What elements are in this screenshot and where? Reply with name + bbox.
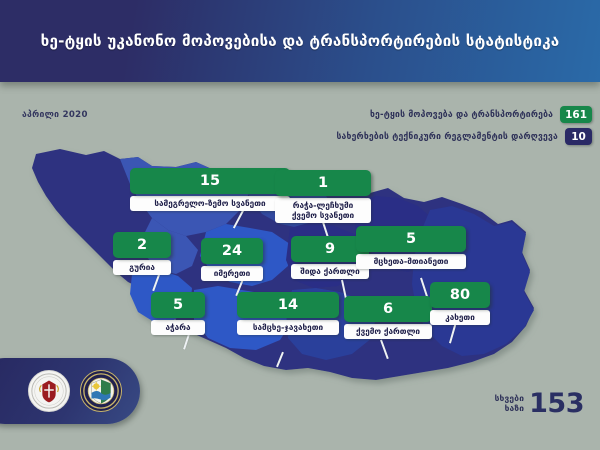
header-banner: ხე-ტყის უკანონო მოპოვებისა და ტრანსპორტი…	[0, 0, 600, 82]
region-label-racha: რაჭა-ლეჩხუმიქვემო სვანეთი	[275, 198, 371, 223]
total-label-line2: ხაზი	[495, 404, 525, 413]
region-count-racha: 1	[275, 170, 371, 196]
region-marker-adjara[interactable]: 5 აჭარა	[151, 292, 205, 335]
region-label-guria: გურია	[113, 260, 171, 275]
region-marker-samegrelo[interactable]: 15 სამეგრელო-ზემო სვანეთი	[130, 168, 290, 211]
footer-logo-panel	[0, 358, 140, 424]
region-count-adjara: 5	[151, 292, 205, 318]
total-summary: სხვები ხაზი 153	[495, 390, 584, 417]
region-count-kakheti: 80	[430, 282, 490, 308]
region-marker-guria[interactable]: 2 გურია	[113, 232, 171, 275]
legend: ხე-ტყის მოპოვება და ტრანსპორტირება 161 ს…	[336, 106, 592, 150]
environmental-supervision-icon	[80, 370, 122, 412]
region-marker-imereti[interactable]: 24 იმერეთი	[201, 238, 263, 281]
region-count-samtskhe: 14	[237, 292, 339, 318]
legend-label-logging: ხე-ტყის მოპოვება და ტრანსპორტირება	[370, 110, 553, 120]
legend-label-sawmill: სახერხების ტექნიკური რეგლამენტის დარღვევ…	[336, 132, 558, 142]
region-label-samtskhe: სამცხე-ჯავახეთი	[237, 320, 339, 335]
legend-row-sawmill: სახერხების ტექნიკური რეგლამენტის დარღვევ…	[336, 128, 592, 145]
region-marker-mtskheta[interactable]: 5 მცხეთა-მთიანეთი	[356, 226, 466, 269]
region-marker-racha[interactable]: 1 რაჭა-ლეჩხუმიქვემო სვანეთი	[275, 170, 371, 223]
region-count-kvemo-kartli: 6	[344, 296, 432, 322]
region-label-adjara: აჭარა	[151, 320, 205, 335]
infographic-root: ხე-ტყის უკანონო მოპოვებისა და ტრანსპორტი…	[0, 0, 600, 450]
total-label: სხვები ხაზი	[495, 394, 525, 413]
legend-badge-sawmill: 10	[565, 128, 592, 145]
page-title: ხე-ტყის უკანონო მოპოვებისა და ტრანსპორტი…	[41, 32, 560, 50]
region-count-mtskheta: 5	[356, 226, 466, 252]
region-count-imereti: 24	[201, 238, 263, 264]
region-label-samegrelo: სამეგრელო-ზემო სვანეთი	[130, 196, 290, 211]
date-label: აპრილი 2020	[22, 110, 88, 120]
legend-row-logging: ხე-ტყის მოპოვება და ტრანსპორტირება 161	[336, 106, 592, 123]
region-marker-samtskhe[interactable]: 14 სამცხე-ჯავახეთი	[237, 292, 339, 335]
region-label-imereti: იმერეთი	[201, 266, 263, 281]
region-label-kvemo-kartli: ქვემო ქართლი	[344, 324, 432, 339]
total-value: 153	[529, 390, 584, 417]
region-marker-kvemo-kartli[interactable]: 6 ქვემო ქართლი	[344, 296, 432, 339]
region-label-mtskheta: მცხეთა-მთიანეთი	[356, 254, 466, 269]
region-label-kakheti: კახეთი	[430, 310, 490, 325]
region-count-guria: 2	[113, 232, 171, 258]
region-count-samegrelo: 15	[130, 168, 290, 194]
georgia-coat-of-arms-icon	[28, 370, 70, 412]
region-marker-kakheti[interactable]: 80 კახეთი	[430, 282, 490, 325]
legend-badge-logging: 161	[560, 106, 592, 123]
